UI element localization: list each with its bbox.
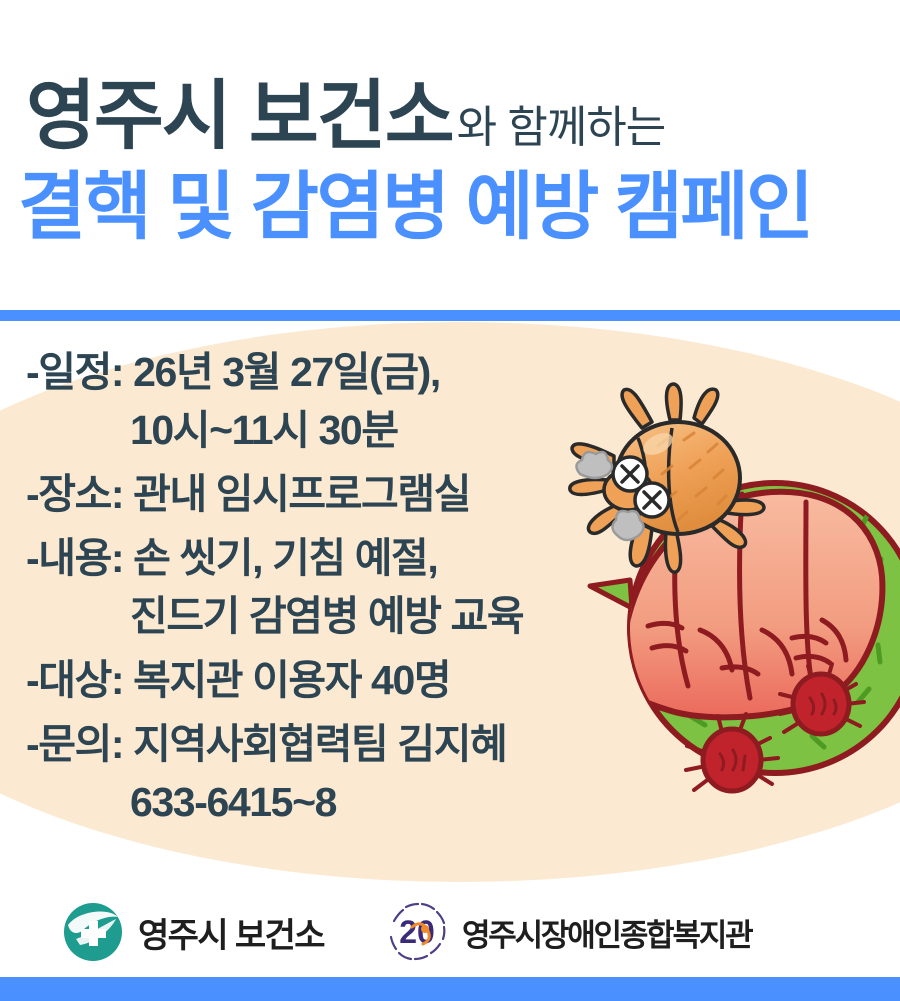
- welfare-center-20th-anniversary-logo-icon: 20: [382, 897, 452, 967]
- header-divider-bar: [0, 310, 900, 321]
- title-campaign-text: 결핵 및 감염병 예방 캠페인: [0, 168, 900, 246]
- detail-line-location: -장소: 관내 임시프로그램실: [0, 474, 600, 515]
- detail-line-contact-person: -문의: 지역사회협력팀 김지혜: [0, 724, 600, 765]
- campaign-details-block: -일정: 26년 3월 27일(금), 10시~11시 30분 -장소: 관내 …: [0, 352, 600, 846]
- detail-line-schedule-date: -일정: 26년 3월 27일(금),: [0, 352, 600, 393]
- welfare-center-logo-group: 20 영주시장애인종합복지관: [382, 897, 752, 967]
- footer-divider-bar: [0, 977, 900, 1001]
- poster-title-block: 영주시 보건소와 함께하는 결핵 및 감염병 예방 캠페인: [0, 78, 900, 245]
- title-line-organization: 영주시 보건소와 함께하는: [0, 78, 900, 156]
- yeongju-health-center-logo-icon: [62, 901, 124, 963]
- detail-line-audience: -대상: 복지관 이용자 40명: [0, 660, 600, 701]
- title-organization-text: 영주시 보건소: [26, 74, 453, 159]
- health-center-logo-group: 영주시 보건소: [62, 901, 324, 963]
- detail-line-schedule-time: 10시~11시 30분: [0, 410, 600, 451]
- title-suffix-text: 와 함께하는: [457, 103, 666, 152]
- campaign-illustration: [560, 380, 900, 840]
- campaign-poster: 영주시 보건소와 함께하는 결핵 및 감염병 예방 캠페인 -일정: 26년 3…: [0, 0, 900, 1001]
- detail-line-contact-phone: 633-6415~8: [0, 782, 600, 823]
- welfare-center-label: 영주시장애인종합복지관: [462, 910, 752, 955]
- health-center-label: 영주시 보건소: [138, 908, 324, 957]
- detail-line-contents-1: -내용: 손 씻기, 기침 예절,: [0, 538, 600, 579]
- detail-line-contents-2: 진드기 감염병 예방 교육: [0, 596, 600, 637]
- poster-footer: 영주시 보건소 20 영주시장애인종합복지관: [0, 893, 900, 971]
